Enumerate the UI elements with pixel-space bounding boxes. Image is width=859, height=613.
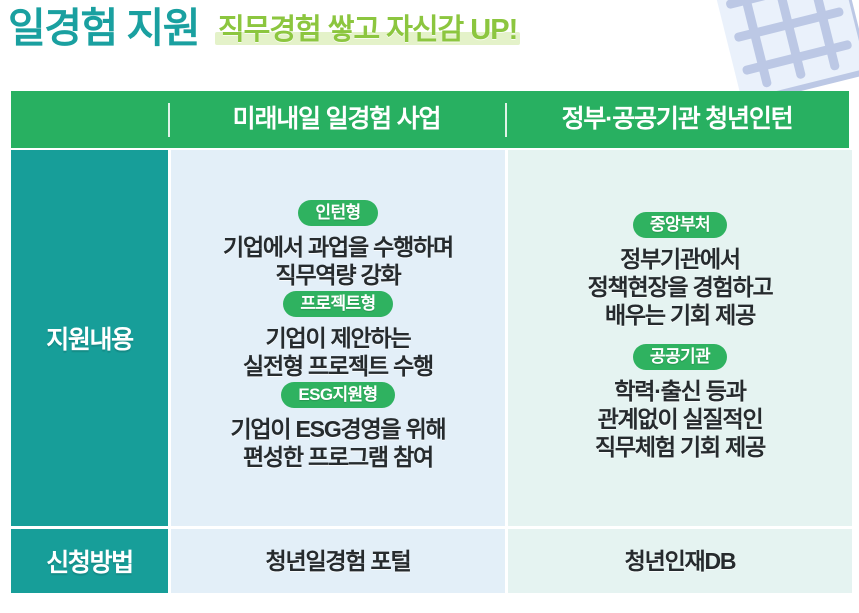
block-central-ministry: 중앙부처 정부기관에서 정책현장을 경험하고 배우는 기회 제공 — [588, 212, 773, 329]
cell-support-content-govt-public: 중앙부처 정부기관에서 정책현장을 경험하고 배우는 기회 제공 공공기관 학력… — [508, 150, 852, 526]
table-header-row: 미래내일 일경험 사업 정부·공공기관 청년인턴 — [11, 91, 849, 148]
table-row-application-method: 신청방법 청년일경험 포털 청년인재DB — [11, 529, 849, 593]
desc-line: 배우는 기회 제공 — [588, 301, 773, 329]
desc-line: 정책현장을 경험하고 — [588, 273, 773, 301]
page-subtitle: 직무경험 쌓고 자신감 UP! — [218, 16, 517, 45]
column-header-mirae-naeil: 미래내일 일경험 사업 — [168, 107, 505, 132]
note-grid-horizontal — [712, 0, 859, 100]
note-sheet — [712, 0, 859, 100]
block-public-institution: 공공기관 학력·출신 등과 관계없이 실질적인 직무체험 기회 제공 — [595, 344, 765, 461]
desc-line: 학력·출신 등과 — [595, 377, 765, 405]
row-label-application-method: 신청방법 — [11, 529, 168, 593]
desc-line: 정부기관에서 — [588, 245, 773, 273]
cell-application-method-mirae-naeil: 청년일경험 포털 — [171, 529, 505, 593]
comparison-table: 미래내일 일경험 사업 정부·공공기관 청년인턴 지원내용 인턴형 기업에서 과… — [11, 91, 849, 593]
cell-support-content-mirae-naeil: 인턴형 기업에서 과업을 수행하며 직무역량 강화 프로젝트형 기업이 제안하는… — [171, 150, 505, 526]
note-grid-vertical — [712, 0, 859, 100]
tilted-grid-note-icon — [712, 0, 859, 100]
badge-central-ministry: 중앙부처 — [633, 212, 727, 238]
desc-esg-type: 기업이 ESG경영을 위해 편성한 프로그램 참여 — [230, 415, 445, 471]
desc-line: 관계없이 실질적인 — [595, 405, 765, 433]
desc-intern-type: 기업에서 과업을 수행하며 직무역량 강화 — [223, 233, 453, 289]
desc-line: 실전형 프로젝트 수행 — [243, 352, 433, 380]
row-label-support-content: 지원내용 — [11, 150, 168, 526]
badge-esg-type: ESG지원형 — [281, 382, 394, 408]
desc-line: 기업이 ESG경영을 위해 — [230, 415, 445, 443]
table-row-support-content: 지원내용 인턴형 기업에서 과업을 수행하며 직무역량 강화 프로젝트형 기업이… — [11, 150, 849, 526]
desc-line: 직무체험 기회 제공 — [595, 433, 765, 461]
application-method-db: 청년인재DB — [625, 547, 736, 575]
bottom-strip — [0, 609, 859, 613]
desc-line: 편성한 프로그램 참여 — [230, 443, 445, 471]
desc-central-ministry: 정부기관에서 정책현장을 경험하고 배우는 기회 제공 — [588, 245, 773, 329]
desc-line: 직무역량 강화 — [223, 261, 453, 289]
block-project-type: 프로젝트형 기업이 제안하는 실전형 프로젝트 수행 — [243, 291, 433, 380]
block-intern-type: 인턴형 기업에서 과업을 수행하며 직무역량 강화 — [223, 200, 453, 289]
badge-intern-type: 인턴형 — [298, 200, 377, 226]
column-header-govt-public-intern: 정부·공공기관 청년인턴 — [505, 107, 849, 132]
badge-project-type: 프로젝트형 — [283, 291, 392, 317]
desc-line: 청년인재DB — [625, 547, 736, 575]
desc-public-institution: 학력·출신 등과 관계없이 실질적인 직무체험 기회 제공 — [595, 377, 765, 461]
badge-public-institution: 공공기관 — [633, 344, 727, 370]
block-esg-type: ESG지원형 기업이 ESG경영을 위해 편성한 프로그램 참여 — [230, 382, 445, 471]
desc-line: 기업에서 과업을 수행하며 — [223, 233, 453, 261]
page-subtitle-wrap: 직무경험 쌓고 자신감 UP! — [215, 16, 520, 47]
desc-line: 청년일경험 포털 — [266, 547, 411, 575]
desc-line: 기업이 제안하는 — [243, 324, 433, 352]
page-title-row: 일경험 지원 직무경험 쌓고 자신감 UP! — [8, 8, 520, 49]
page-title: 일경험 지원 — [8, 8, 199, 49]
application-method-portal: 청년일경험 포털 — [266, 547, 411, 575]
desc-project-type: 기업이 제안하는 실전형 프로젝트 수행 — [243, 324, 433, 380]
cell-application-method-govt-public: 청년인재DB — [508, 529, 852, 593]
